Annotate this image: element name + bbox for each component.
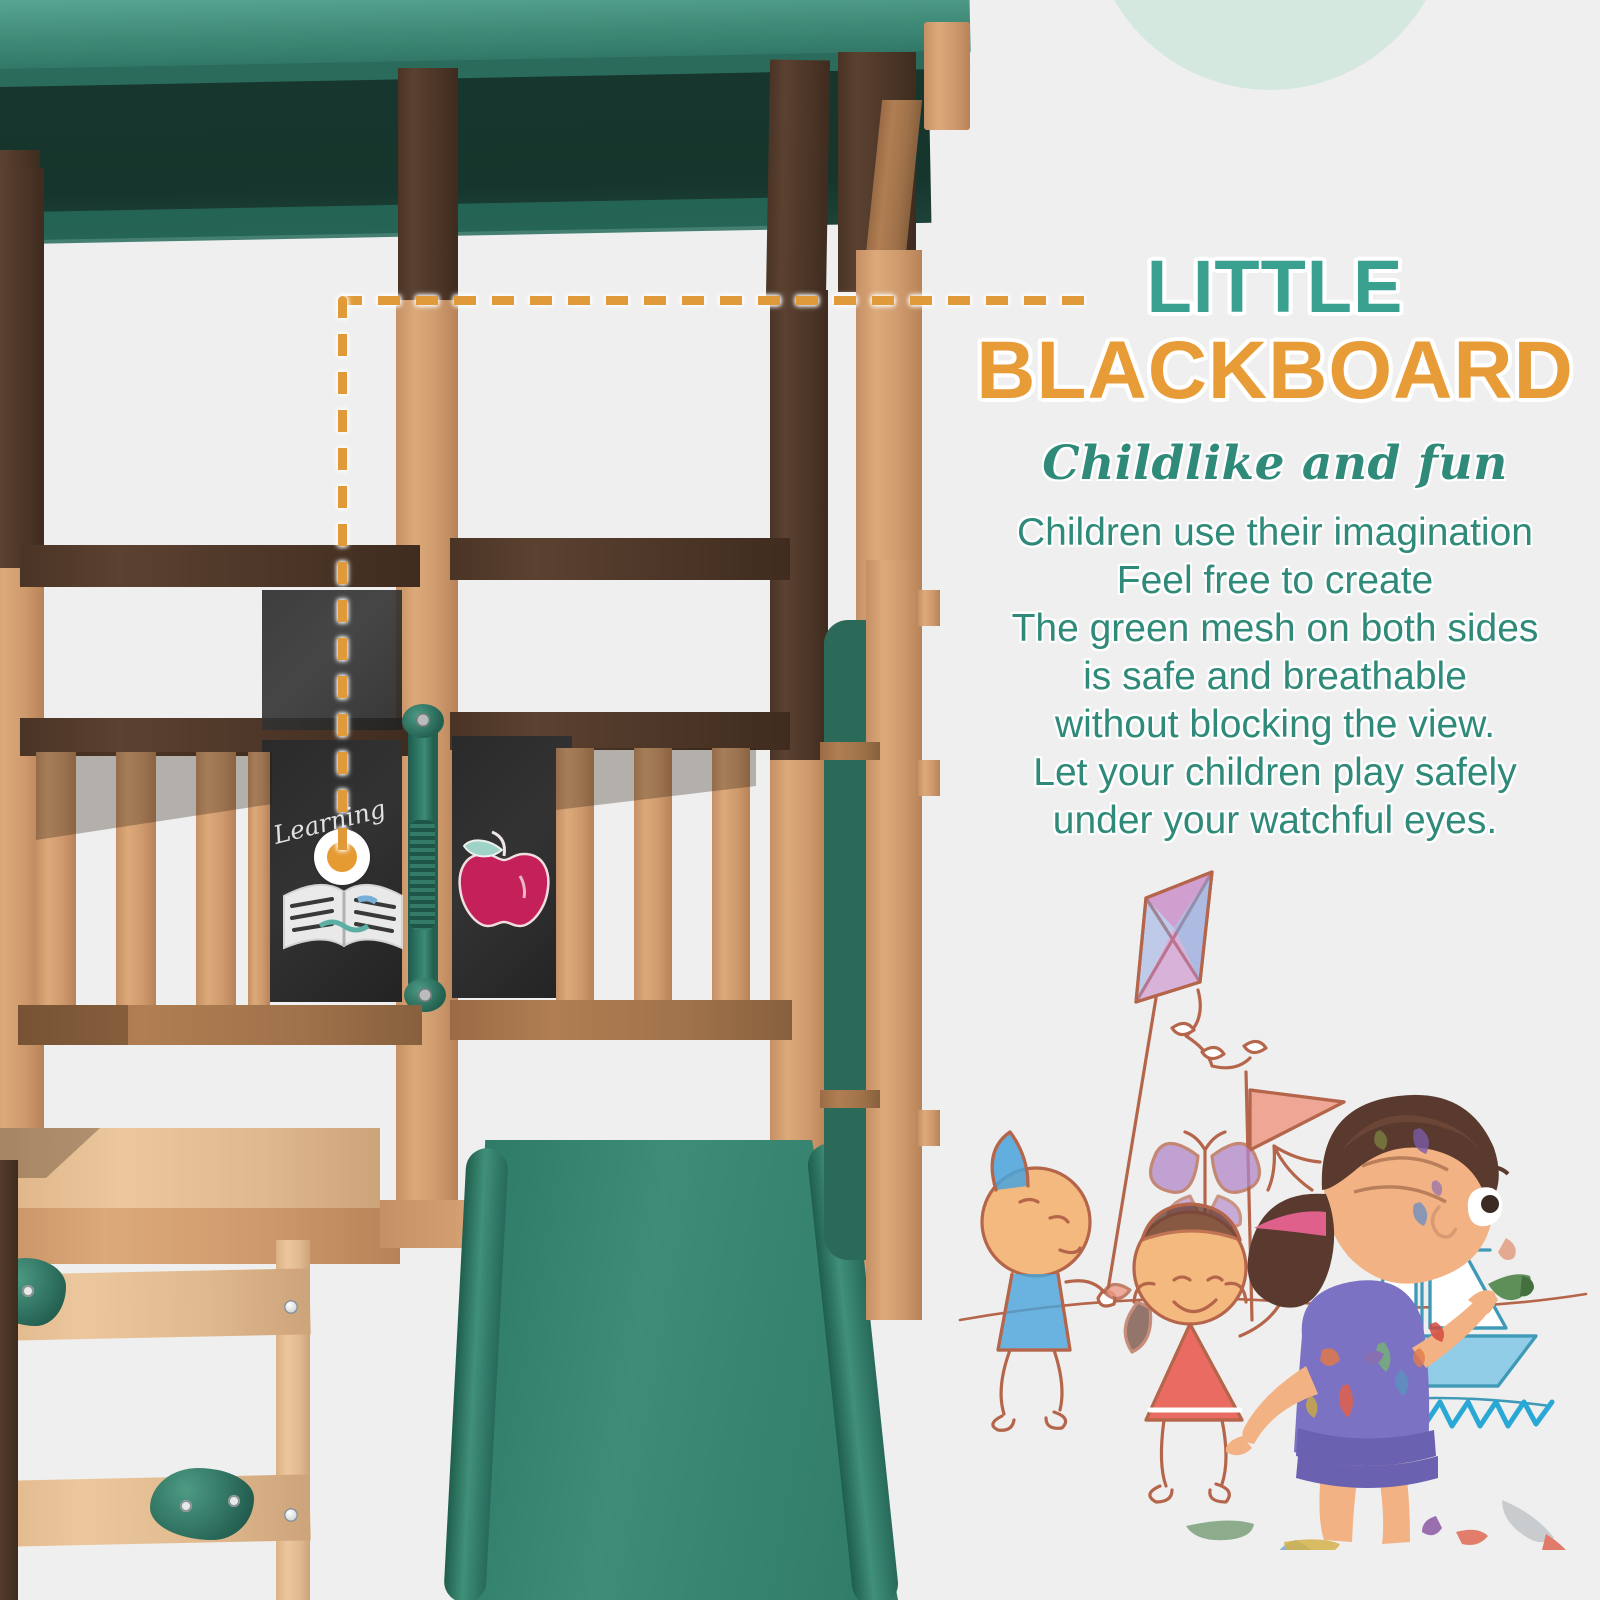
headline-line-1: LITTLE [960, 250, 1590, 324]
product-marketing-banner: Learning [0, 0, 1600, 1600]
ladder-screw-2 [284, 1508, 298, 1522]
ladder-screw-1 [284, 1300, 298, 1314]
ladder-post-dark [0, 1160, 18, 1600]
handle-screw-bottom [418, 988, 432, 1002]
mesh-crossbar-1 [820, 742, 880, 760]
blackboard-panel-upper [262, 590, 402, 730]
mesh-front-post [866, 560, 922, 1320]
rock-hold-2-screw-a [180, 1500, 192, 1512]
headline-line-2: BLACKBOARD [960, 330, 1590, 412]
deck-front-edge [0, 1208, 400, 1264]
mesh-tab-1 [918, 590, 940, 626]
roof-post-right-a [766, 59, 830, 300]
rock-hold-2-screw-b [228, 1495, 240, 1507]
rail-bottom-shadow [18, 1005, 128, 1045]
body-line-5: without blocking the view. [960, 701, 1590, 749]
stick-boy-doodle [982, 1132, 1115, 1430]
door-handle-grip [410, 820, 435, 930]
children-drawing-illustration [950, 850, 1590, 1550]
playset-photo: Learning [0, 0, 1000, 1600]
mesh-crossbar-2 [820, 1090, 880, 1108]
kite-large-doodle [1136, 872, 1212, 1002]
marketing-text-block: LITTLE BLACKBOARD Childlike and fun Chil… [960, 250, 1590, 845]
headline-subtitle: Childlike and fun [960, 436, 1590, 491]
illustration-svg [950, 850, 1590, 1550]
decorative-circle [1090, 0, 1450, 90]
body-line-6: Let your children play safely [960, 749, 1590, 797]
rail-top-left [20, 545, 420, 587]
body-line-2: Feel free to create [960, 557, 1590, 605]
body-line-7: under your watchful eyes. [960, 797, 1590, 845]
callout-line-vertical [338, 296, 347, 856]
rock-hold-1-screw [22, 1285, 34, 1297]
body-line-4: is safe and breathable [960, 653, 1590, 701]
mesh-tab-3 [918, 1110, 940, 1146]
body-line-3: The green mesh on both sides [960, 605, 1590, 653]
handle-screw-top [416, 713, 430, 727]
body-line-1: Children use their imagination [960, 509, 1590, 557]
body-copy: Children use their imagination Feel free… [960, 509, 1590, 845]
rail-top-right [450, 538, 790, 580]
rail-bottom-right [450, 1000, 792, 1040]
roof-corner-block [924, 22, 970, 130]
post-left-outer-shadow [0, 168, 44, 568]
mesh-tab-2 [918, 760, 940, 796]
post-center-right-shadow [770, 290, 828, 760]
roof-post-left [398, 68, 458, 318]
